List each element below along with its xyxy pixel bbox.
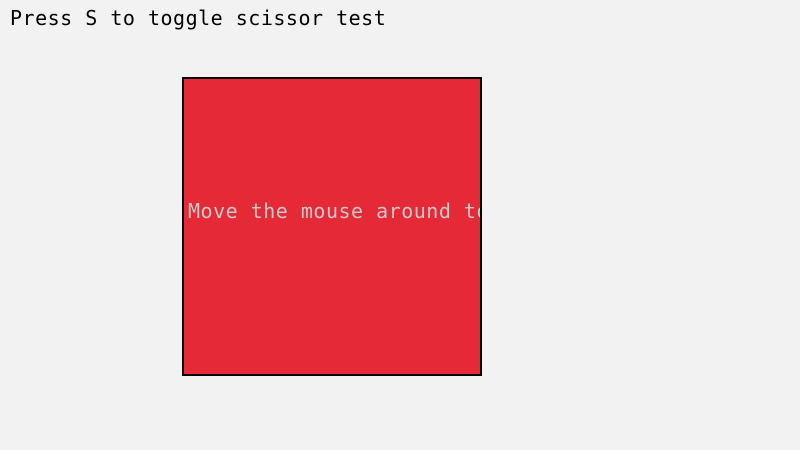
instruction-text: Press S to toggle scissor test: [10, 7, 386, 29]
scissor-region[interactable]: Move the mouse around to reveal content: [182, 77, 482, 376]
app-window: Press S to toggle scissor test Move the …: [0, 0, 800, 450]
scissor-clip-container: Move the mouse around to reveal content: [184, 79, 480, 374]
clipped-message-text: Move the mouse around to reveal content: [188, 200, 480, 222]
